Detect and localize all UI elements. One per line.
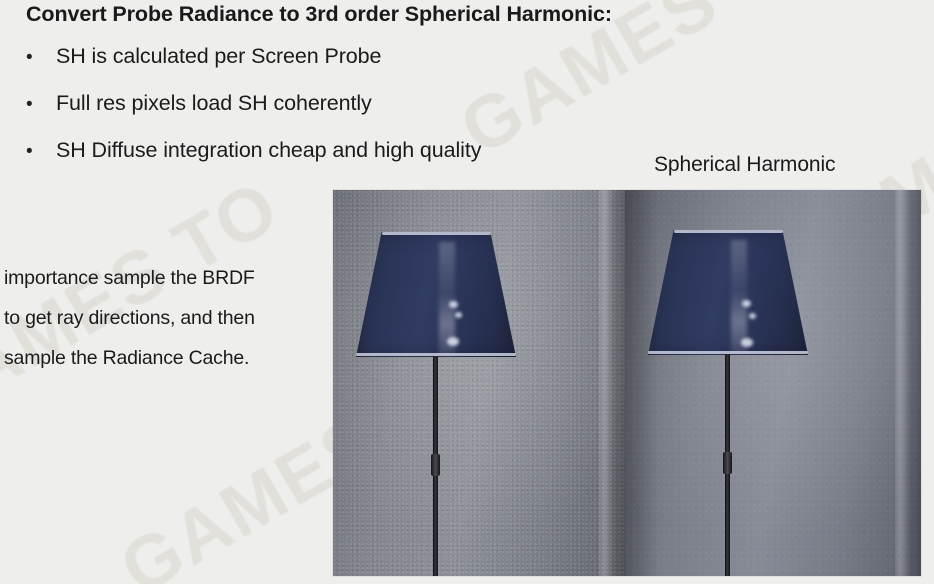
slide-title: Convert Probe Radiance to 3rd order Sphe… [26, 2, 612, 27]
lampshade-glint [749, 313, 756, 319]
comparison-photo-reference [333, 190, 625, 576]
list-item-label: Full res pixels load SH coherently [56, 91, 372, 116]
lampshade [356, 232, 516, 357]
comparison-image-panel [333, 190, 921, 576]
side-note-line: sample the Radiance Cache. [4, 338, 334, 378]
lampshade-glint [741, 338, 753, 347]
floor-lamp [647, 190, 921, 576]
list-item-label: SH is calculated per Screen Probe [56, 44, 381, 69]
lampshade-glint [742, 300, 751, 307]
lampshade-glint [447, 337, 459, 346]
lampshade-top-rim [382, 232, 491, 235]
lamp-pole-joint [431, 454, 440, 476]
lampshade-top-rim [674, 230, 783, 233]
side-note-line: importance sample the BRDF [4, 258, 334, 298]
lampshade-glint [455, 312, 462, 318]
side-note: importance sample the BRDF to get ray di… [4, 258, 334, 378]
floor-lamp [355, 190, 625, 576]
side-note-line: to get ray directions, and then [4, 298, 334, 338]
list-item: • Full res pixels load SH coherently [26, 91, 626, 138]
list-item-label: SH Diffuse integration cheap and high qu… [56, 138, 481, 163]
bullet-marker-icon: • [26, 95, 56, 114]
list-item: • SH Diffuse integration cheap and high … [26, 138, 626, 185]
lampshade [648, 230, 808, 355]
bullet-marker-icon: • [26, 142, 56, 161]
bullet-marker-icon: • [26, 48, 56, 67]
lampshade-specular-highlight [731, 240, 747, 353]
lamp-pole-joint [723, 452, 732, 474]
slide: GAMES TO GAMES TO GAMES TO GAMES TO GAME… [0, 0, 934, 584]
bullet-list: • SH is calculated per Screen Probe • Fu… [26, 44, 626, 185]
comparison-right-caption: Spherical Harmonic [654, 153, 835, 177]
list-item: • SH is calculated per Screen Probe [26, 44, 626, 91]
comparison-photo-spherical-harmonic [625, 190, 921, 576]
lampshade-glint [449, 301, 458, 308]
